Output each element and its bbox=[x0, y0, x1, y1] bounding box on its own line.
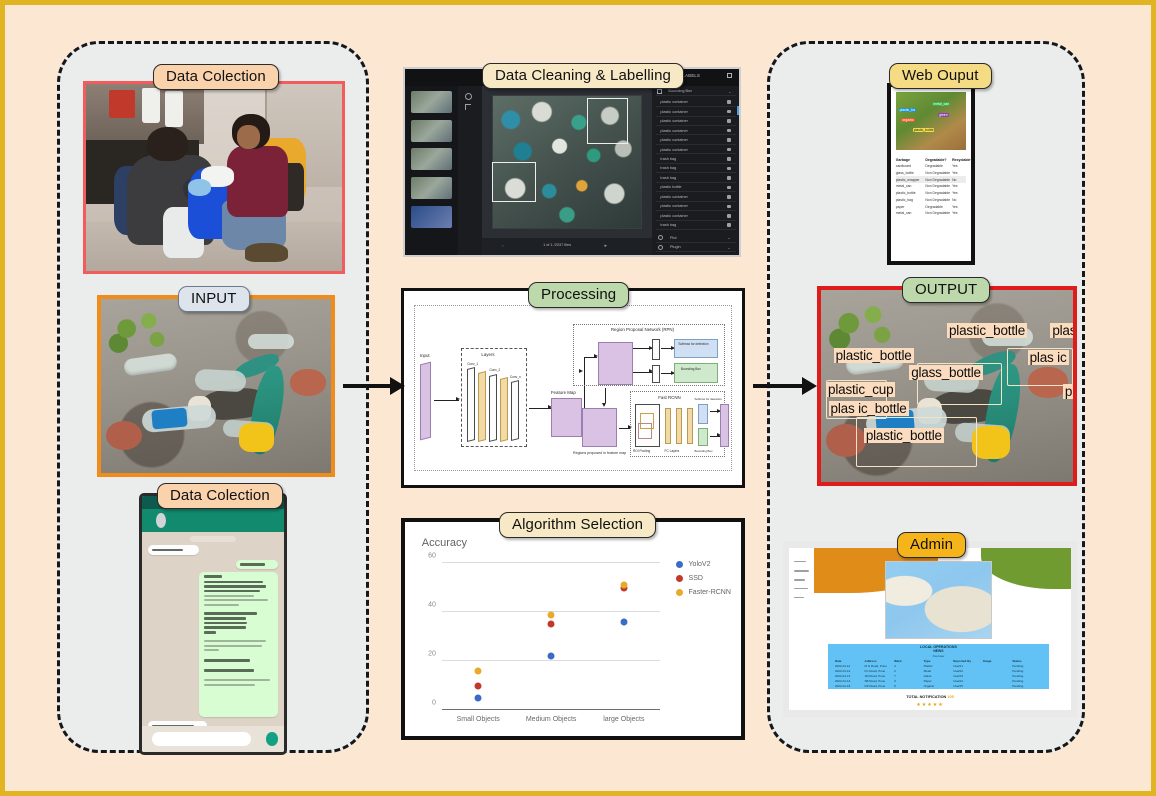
person-b-face bbox=[237, 125, 260, 149]
arch-conv1-label: Conv_1 bbox=[467, 362, 478, 366]
cell-recyclable: Yes bbox=[952, 191, 966, 195]
admin-table-title: LOCAL OPERATIONS bbox=[828, 645, 1048, 649]
table-row: glass_bottle Non Degradable Yes bbox=[896, 169, 966, 176]
cell-garbage: glass_bottle bbox=[896, 171, 926, 175]
point-yolov2-large bbox=[620, 619, 627, 626]
admin-cell-date: 2022-01-11 bbox=[835, 664, 865, 668]
label-text: plastic container bbox=[660, 204, 687, 208]
chart-plot-area: 60 40 20 0 Small Objects Medium Objects … bbox=[442, 558, 660, 710]
cell-recyclable: Yes bbox=[952, 205, 966, 209]
point-fasterrcnn-large bbox=[620, 582, 627, 589]
point-fasterrcnn-small bbox=[475, 668, 482, 675]
person-a-head bbox=[147, 127, 188, 161]
point-ssd-small bbox=[475, 682, 482, 689]
detection-label: plas ic_bottle bbox=[829, 401, 909, 416]
labelling-footer: ‹ 1 of 1 /2037 files ▸ bbox=[482, 238, 652, 255]
prev-page-icon[interactable]: ‹ bbox=[502, 243, 503, 248]
label-row[interactable]: plastic container bbox=[656, 146, 736, 155]
badge-data-collection-top: Data Colection bbox=[153, 64, 279, 90]
thumbnail-item[interactable] bbox=[411, 177, 452, 199]
arch-roi-pooling-label: ROI Pooling bbox=[633, 449, 650, 453]
label-text: trash bag bbox=[660, 176, 676, 180]
detection-label: plas ic bbox=[1028, 350, 1069, 365]
admin-cell-ward: 2 bbox=[894, 669, 924, 673]
plastic-bottle-d bbox=[248, 334, 294, 350]
sidebar-item[interactable] bbox=[794, 561, 806, 563]
admin-col-type: Type bbox=[924, 659, 954, 663]
admin-col-status: Status bbox=[1012, 659, 1042, 663]
glove-hand-2 bbox=[188, 179, 211, 196]
visibility-icon[interactable] bbox=[727, 129, 731, 133]
label-row[interactable]: plastic container bbox=[656, 136, 736, 145]
plot-label: Plot bbox=[670, 236, 677, 240]
web-output-screenshot: plastic_ba metal_can organic green plast… bbox=[887, 83, 975, 265]
admin-dashboard-screenshot: LOCAL OPERATIONS NEWS Overview Date Addr… bbox=[783, 541, 1077, 717]
legend-label-ssd: SSD bbox=[689, 575, 703, 582]
badge-input: INPUT bbox=[178, 286, 250, 312]
bottle-blue-label bbox=[151, 407, 187, 429]
y-tick-60: 60 bbox=[428, 553, 436, 560]
chevron-down-icon[interactable]: ⌄ bbox=[728, 89, 731, 94]
visibility-icon[interactable] bbox=[727, 214, 731, 218]
table-row: plastic_wrapper Non Degradable No bbox=[896, 176, 966, 183]
legend-label-fasterrcnn: Faster-RCNN bbox=[689, 589, 731, 596]
cell-recyclable: Yes bbox=[952, 171, 966, 175]
bounding-box[interactable] bbox=[587, 98, 628, 144]
label-row[interactable]: plastic container bbox=[656, 127, 736, 136]
label-text: plastic container bbox=[660, 195, 687, 199]
yellow-container bbox=[239, 423, 274, 453]
admin-table-row: 2022-01-13 JM Road, Pune 7 Glass User03 … bbox=[835, 674, 1042, 678]
chat-bubble-outgoing-greeting bbox=[236, 560, 279, 569]
admin-cell-status: Pending bbox=[1012, 669, 1042, 673]
visibility-icon[interactable] bbox=[727, 119, 731, 123]
algorithm-selection-chart: Accuracy 60 40 20 0 Small Objects Medium… bbox=[401, 518, 745, 740]
admin-table-row: 2022-01-15 DP Road, Pune 5 Organic User0… bbox=[835, 684, 1042, 688]
arch-input-tensor bbox=[420, 362, 431, 440]
admin-table-caption: Overview bbox=[828, 654, 1048, 658]
point-yolov2-small bbox=[475, 695, 482, 702]
plugin-menu-item[interactable]: Plugin ⌄ bbox=[656, 243, 736, 252]
admin-page: LOCAL OPERATIONS NEWS Overview Date Addr… bbox=[789, 548, 1071, 710]
column-garbage: Garbage bbox=[896, 158, 926, 162]
arch-fc-block bbox=[665, 408, 671, 444]
admin-col-ward: Ward bbox=[894, 659, 924, 663]
admin-cell-ward: 4 bbox=[894, 664, 924, 668]
arch-rpn-bbox-label: Bounding Box bbox=[681, 367, 701, 371]
web-tag-organic: organic bbox=[901, 118, 914, 122]
arch-fastrcnn-bbox-box bbox=[698, 428, 709, 446]
arch-rpn-softmax-box: Softmax for detection bbox=[674, 339, 718, 359]
table-row: cardboard Degradable Yes bbox=[896, 163, 966, 170]
visibility-icon[interactable] bbox=[727, 148, 731, 152]
label-text: plastic container bbox=[660, 138, 687, 142]
annotated-waste-image bbox=[492, 95, 642, 229]
thumbnail-item[interactable] bbox=[411, 206, 452, 228]
tool-palette[interactable] bbox=[458, 86, 481, 255]
label-text: plastic container bbox=[660, 148, 687, 152]
sidebar-item[interactable] bbox=[794, 570, 809, 572]
arch-rpn-bbox-box: Bounding Box bbox=[674, 363, 718, 383]
visibility-icon[interactable] bbox=[727, 157, 731, 161]
terracotta-shard bbox=[106, 421, 143, 451]
arch-arrow-bbox bbox=[661, 373, 674, 374]
arch-conv-block bbox=[511, 380, 519, 441]
admin-banner-green bbox=[981, 548, 1071, 588]
annotation-canvas[interactable] bbox=[482, 86, 652, 239]
arch-output-tensor bbox=[720, 404, 729, 447]
admin-total-notification: TOTAL NOTIFICATION 105 bbox=[789, 695, 1071, 699]
person-b-shoe bbox=[245, 243, 289, 262]
label-row[interactable]: plastic container bbox=[656, 117, 736, 126]
gridline-20 bbox=[442, 660, 660, 661]
arch-rpn-head-a bbox=[652, 339, 660, 360]
admin-cell-address: FC Road, Pune bbox=[865, 669, 895, 673]
x-tick-small: Small Objects bbox=[457, 716, 500, 723]
cell-recyclable: Yes bbox=[952, 164, 966, 168]
admin-data-table: LOCAL OPERATIONS NEWS Overview Date Addr… bbox=[828, 644, 1048, 689]
label-row[interactable]: plastic container bbox=[656, 203, 736, 212]
admin-cell-address: DP Road, Pune bbox=[865, 684, 895, 688]
person-b-body bbox=[227, 146, 288, 217]
contact-avatar bbox=[156, 513, 166, 528]
arch-fc-block bbox=[687, 408, 693, 444]
plugin-icon bbox=[658, 245, 663, 250]
visibility-icon[interactable] bbox=[727, 167, 731, 171]
arch-rpn-title: Region Proposal Network (RPN) bbox=[611, 327, 674, 332]
admin-cell-reportedby: User03 bbox=[953, 674, 983, 678]
pointer-icon[interactable] bbox=[465, 104, 471, 110]
arch-arrow-input-layers bbox=[434, 400, 459, 401]
badge-algorithm-selection: Algorithm Selection bbox=[499, 512, 656, 538]
label-text: trash bag bbox=[660, 223, 676, 227]
arch-featuremap-tensor bbox=[551, 398, 583, 438]
visibility-icon[interactable] bbox=[727, 195, 731, 199]
badge-admin: Admin bbox=[897, 532, 966, 558]
label-text: plastic container bbox=[660, 110, 687, 114]
next-page-icon[interactable]: ▸ bbox=[604, 243, 607, 249]
detection-label: glass_bottle bbox=[909, 365, 983, 380]
arch-featuremap-label: Feature Map bbox=[551, 390, 576, 395]
admin-cell-reportedby: User05 bbox=[953, 684, 983, 688]
outer-frame: Data Colection bbox=[0, 0, 1156, 796]
cell-garbage: cardboard bbox=[896, 164, 926, 168]
legend-swatch-yolov2 bbox=[676, 561, 683, 568]
total-value: 105 bbox=[947, 695, 953, 699]
table-row: metal_can Non Degradable Yes bbox=[896, 210, 966, 217]
flow-arrow-input-to-processing bbox=[343, 384, 391, 388]
arch-fastrcnn-title: Fast RCNN bbox=[658, 395, 680, 400]
legend-item-yolov2[interactable]: YoloV2 bbox=[676, 561, 731, 568]
legend-label-yolov2: YoloV2 bbox=[689, 561, 711, 568]
web-detection-image: plastic_ba metal_can organic green plast… bbox=[896, 92, 966, 149]
cell-degradable: Non Degradable bbox=[925, 178, 952, 182]
chat-bubble-incoming-1 bbox=[148, 545, 199, 555]
table-row: metal_can Non Degradable Yes bbox=[896, 183, 966, 190]
x-axis bbox=[442, 709, 660, 710]
admin-cell-status: Pending bbox=[1012, 674, 1042, 678]
admin-cell-ward: 5 bbox=[894, 684, 924, 688]
total-label: TOTAL NOTIFICATION bbox=[906, 695, 946, 699]
admin-col-date: Date bbox=[835, 659, 865, 663]
arch-regions-label: Regions proposed in feature map bbox=[573, 451, 626, 455]
badge-processing: Processing bbox=[528, 282, 629, 308]
red-object bbox=[109, 90, 135, 118]
x-tick-medium: Medium Objects bbox=[526, 716, 577, 723]
rating-stars: ★★★★★ bbox=[789, 702, 1071, 708]
cell-garbage: plastic_wrapper bbox=[896, 178, 926, 182]
badge-data-collection-bottom: Data Colection bbox=[157, 483, 283, 509]
detection-label: plastic_bottle bbox=[947, 323, 1027, 338]
settings-icon[interactable] bbox=[727, 73, 732, 78]
arch-rpn-head-b bbox=[652, 365, 660, 383]
arch-conv2-label: Conv_2 bbox=[489, 368, 500, 372]
admin-table-row: 2022-01-11 M G Road, Pune 4 Plastic User… bbox=[835, 664, 1042, 668]
cell-garbage: metal_can bbox=[896, 211, 926, 215]
visibility-icon[interactable] bbox=[727, 138, 731, 142]
beach-litter-scene bbox=[101, 299, 331, 473]
y-tick-40: 40 bbox=[428, 602, 436, 609]
admin-cell-reportedby: User04 bbox=[953, 679, 983, 683]
table-row: plastic_bottle Non Degradable Yes bbox=[896, 190, 966, 197]
arch-input-label: Input bbox=[420, 353, 430, 358]
admin-cell-address: JM Road, Pune bbox=[865, 674, 895, 678]
white-bottle-1 bbox=[142, 88, 160, 124]
admin-sidebar[interactable] bbox=[792, 558, 815, 607]
arch-arrow-out-a bbox=[710, 411, 719, 412]
table-row: paper Degradable Yes bbox=[896, 203, 966, 210]
white-bottle-2 bbox=[165, 91, 183, 127]
flow-arrow-processing-to-output bbox=[753, 384, 803, 388]
arch-fc-layers-label: FC Layers bbox=[665, 449, 680, 453]
message-input[interactable] bbox=[152, 732, 251, 746]
row-selection-indicator bbox=[737, 106, 739, 115]
admin-cell-status: Pending bbox=[1012, 664, 1042, 668]
arch-arrow-layers-featuremap bbox=[529, 408, 551, 409]
point-yolov2-medium bbox=[548, 653, 555, 660]
label-text: plastic container bbox=[660, 214, 687, 218]
admin-cell-date: 2022-01-14 bbox=[835, 679, 865, 683]
admin-cell-reportedby: User02 bbox=[953, 669, 983, 673]
arch-arrow-down-regions bbox=[605, 388, 606, 403]
badge-web-output: Web Ouput bbox=[889, 63, 992, 89]
file-counter: 1 of 1 /2037 files bbox=[543, 243, 571, 247]
data-collection-photo bbox=[83, 81, 345, 274]
admin-cell-status: Pending bbox=[1012, 679, 1042, 683]
detection-label: plastic_cup bbox=[826, 382, 895, 397]
gridline-60 bbox=[442, 562, 660, 563]
visibility-icon[interactable] bbox=[727, 186, 731, 190]
label-row[interactable]: trash bag bbox=[656, 165, 736, 174]
admin-cell-type: Plastic bbox=[924, 664, 954, 668]
web-tag-metal-can: metal_can bbox=[932, 102, 950, 106]
visibility-icon[interactable] bbox=[727, 176, 731, 180]
sidebar-item[interactable] bbox=[794, 597, 804, 599]
visibility-icon[interactable] bbox=[727, 100, 731, 104]
web-tag-plastic-bottle: plastic_bottle bbox=[913, 128, 935, 132]
web-tag-green: green bbox=[938, 113, 949, 117]
arch-fc-block bbox=[676, 408, 682, 444]
chart-title: Accuracy bbox=[422, 537, 467, 549]
point-fasterrcnn-medium bbox=[548, 611, 555, 618]
column-recyclable: Recyclable? bbox=[952, 158, 966, 162]
cell-degradable: Degradable bbox=[925, 205, 952, 209]
admin-cell-reportedby: User01 bbox=[953, 664, 983, 668]
thumbnail-strip[interactable] bbox=[405, 86, 458, 255]
label-text: trash bag bbox=[660, 166, 676, 170]
admin-cell-address: SB Road, Pune bbox=[865, 679, 895, 683]
input-waste-photo bbox=[97, 295, 335, 477]
arch-arrow-rpn-reg bbox=[633, 372, 652, 373]
cell-recyclable: Yes bbox=[952, 184, 966, 188]
chevron-down-icon[interactable]: ⌄ bbox=[727, 235, 730, 240]
badge-output: OUTPUT bbox=[902, 277, 990, 303]
glass-bottle-b bbox=[195, 369, 247, 392]
legend-swatch-ssd bbox=[676, 575, 683, 582]
visibility-icon[interactable] bbox=[727, 223, 731, 227]
label-row[interactable]: plastic bottle bbox=[656, 184, 736, 193]
cell-degradable: Degradable bbox=[925, 164, 952, 168]
label-row[interactable]: plastic container bbox=[656, 98, 736, 107]
admin-map[interactable] bbox=[885, 561, 992, 639]
thumbnail-item[interactable] bbox=[411, 148, 452, 170]
whatsapp-screenshot bbox=[139, 493, 287, 755]
yellow-container bbox=[972, 426, 1010, 459]
label-text: plastic bottle bbox=[660, 185, 681, 189]
detection-label: plastic_b bbox=[1050, 323, 1073, 338]
admin-cell-address: M G Road, Pune bbox=[865, 664, 895, 668]
label-text: plastic container bbox=[660, 129, 687, 133]
chat-date-divider bbox=[190, 536, 235, 543]
arch-layers-label: Layers bbox=[481, 352, 494, 357]
visibility-icon[interactable] bbox=[727, 205, 731, 209]
plot-menu-item[interactable]: Plot ⌄ bbox=[656, 234, 736, 243]
labelling-tool-screenshot: MORE IMAGES EXPORT LABELS bbox=[403, 67, 741, 257]
arch-fastrcnn-softmax-box bbox=[698, 404, 709, 424]
table-row: plastic_bag Non Degradable No bbox=[896, 197, 966, 204]
detection-label: plastic_bottle bbox=[864, 428, 944, 443]
visibility-icon[interactable] bbox=[727, 110, 731, 114]
cell-recyclable: Yes bbox=[952, 211, 966, 215]
label-row[interactable]: plastic container bbox=[656, 212, 736, 221]
label-text: plastic container bbox=[660, 119, 687, 123]
plot-icon bbox=[658, 235, 663, 240]
arch-rpn-featuremap bbox=[598, 342, 633, 385]
thumbnail-item[interactable] bbox=[411, 120, 452, 142]
admin-cell-date: 2022-01-12 bbox=[835, 669, 865, 673]
arch-arrow-out-b bbox=[710, 436, 719, 437]
label-text: trash bag bbox=[660, 157, 676, 161]
admin-table-row: 2022-01-14 SB Road, Pune 3 Paper User04 … bbox=[835, 679, 1042, 683]
arch-convn-label: Conv_n bbox=[510, 375, 521, 379]
legend-item-ssd[interactable]: SSD bbox=[676, 575, 731, 582]
terracotta-shard-2 bbox=[290, 369, 327, 397]
cell-recyclable: No bbox=[952, 198, 966, 202]
diagram-canvas: Data Colection bbox=[5, 5, 1151, 791]
checkbox-icon[interactable] bbox=[657, 89, 662, 94]
cell-degradable: Non Degradable bbox=[925, 191, 952, 195]
admin-cell-type: Metal bbox=[924, 669, 954, 673]
legend-item-fasterrcnn[interactable]: Faster-RCNN bbox=[676, 589, 731, 596]
x-tick-large: large Objects bbox=[603, 716, 644, 723]
thumbnail-item[interactable] bbox=[411, 91, 452, 113]
arch-conv-block bbox=[489, 374, 497, 442]
label-text: plastic container bbox=[660, 100, 687, 104]
arch-conv-block bbox=[467, 367, 475, 442]
cell-recyclable: No bbox=[952, 178, 966, 182]
cell-degradable: Non Degradable bbox=[925, 198, 952, 202]
arch-fastrcnn-softmax-label: Softmax for detection bbox=[695, 397, 722, 401]
photo-room-scene bbox=[86, 84, 342, 271]
arch-roi-pooling-block bbox=[635, 404, 660, 447]
cell-garbage: paper bbox=[896, 205, 926, 209]
output-detection-image: plastic_bottle plastic_b plastic_bottle … bbox=[817, 286, 1077, 486]
admin-cell-type: Organic bbox=[924, 684, 954, 688]
y-tick-0: 0 bbox=[432, 700, 436, 707]
weeds bbox=[106, 309, 175, 358]
admin-col-image: Image bbox=[983, 659, 1013, 663]
arch-rpn-softmax-label: Softmax for detection bbox=[678, 342, 708, 346]
mic-icon[interactable] bbox=[266, 732, 279, 746]
chevron-down-icon[interactable]: ⌄ bbox=[727, 245, 730, 250]
label-row[interactable]: trash bag bbox=[656, 174, 736, 183]
cell-degradable: Non Degradable bbox=[925, 171, 952, 175]
admin-col-reportedby: Reported By bbox=[953, 659, 983, 663]
arch-conv-block bbox=[478, 370, 486, 441]
admin-table-subtitle: NEWS bbox=[828, 649, 1048, 653]
web-tag-plastic-ba: plastic_ba bbox=[899, 108, 916, 112]
label-group-name: Bounding Box bbox=[668, 89, 692, 93]
sidebar-item[interactable] bbox=[794, 588, 808, 590]
chat-bubble-outgoing-body bbox=[199, 572, 279, 718]
label-row[interactable]: trash bag bbox=[656, 155, 736, 164]
label-row[interactable]: plastic container bbox=[656, 193, 736, 202]
admin-col-address: Address bbox=[865, 659, 895, 663]
processing-architecture-diagram: Input Layers Conv_1 Conv_2 Conv_n Featur… bbox=[401, 288, 745, 488]
bounding-box[interactable] bbox=[492, 162, 536, 202]
admin-header-row: Date Address Ward Type Reported By Image… bbox=[835, 659, 1042, 663]
arch-conv-block bbox=[500, 377, 508, 442]
faster-rcnn-architecture: Input Layers Conv_1 Conv_2 Conv_n Featur… bbox=[414, 305, 732, 472]
zoom-icon[interactable] bbox=[465, 93, 472, 100]
detection-label: plastic_bottle bbox=[834, 348, 914, 363]
sidebar-item[interactable] bbox=[794, 579, 805, 581]
chart-legend: YoloV2 SSD Faster-RCNN bbox=[676, 561, 731, 603]
admin-cell-ward: 3 bbox=[894, 679, 924, 683]
detection-label: p bbox=[1063, 384, 1073, 399]
cell-garbage: plastic_bag bbox=[896, 198, 926, 202]
arch-arrow-softmax bbox=[661, 348, 674, 349]
column-degradable: Degradable? bbox=[925, 158, 952, 162]
admin-cell-type: Paper bbox=[924, 679, 954, 683]
label-row[interactable]: trash bag bbox=[656, 221, 736, 230]
arch-arrow-rpn-cls bbox=[633, 348, 652, 349]
plugin-label: Plugin bbox=[670, 245, 681, 249]
label-row[interactable]: plastic container bbox=[656, 108, 736, 117]
admin-table-row: 2022-01-12 FC Road, Pune 2 Metal User02 … bbox=[835, 669, 1042, 673]
admin-cell-date: 2022-01-13 bbox=[835, 674, 865, 678]
label-list-panel[interactable]: Bounding Box ⌄ plastic container plastic… bbox=[652, 86, 739, 255]
legend-swatch-fasterrcnn bbox=[676, 589, 683, 596]
admin-cell-type: Glass bbox=[924, 674, 954, 678]
web-output-table: Garbage Degradable? Recyclable? cardboar… bbox=[896, 157, 966, 256]
point-ssd-medium bbox=[548, 621, 555, 628]
y-tick-20: 20 bbox=[428, 651, 436, 658]
admin-cell-status: Pending bbox=[1012, 684, 1042, 688]
arch-regions-tensor bbox=[582, 408, 617, 448]
cell-degradable: Non Degradable bbox=[925, 184, 952, 188]
arch-fastrcnn-bbox-label: Bounding Box bbox=[695, 449, 713, 453]
